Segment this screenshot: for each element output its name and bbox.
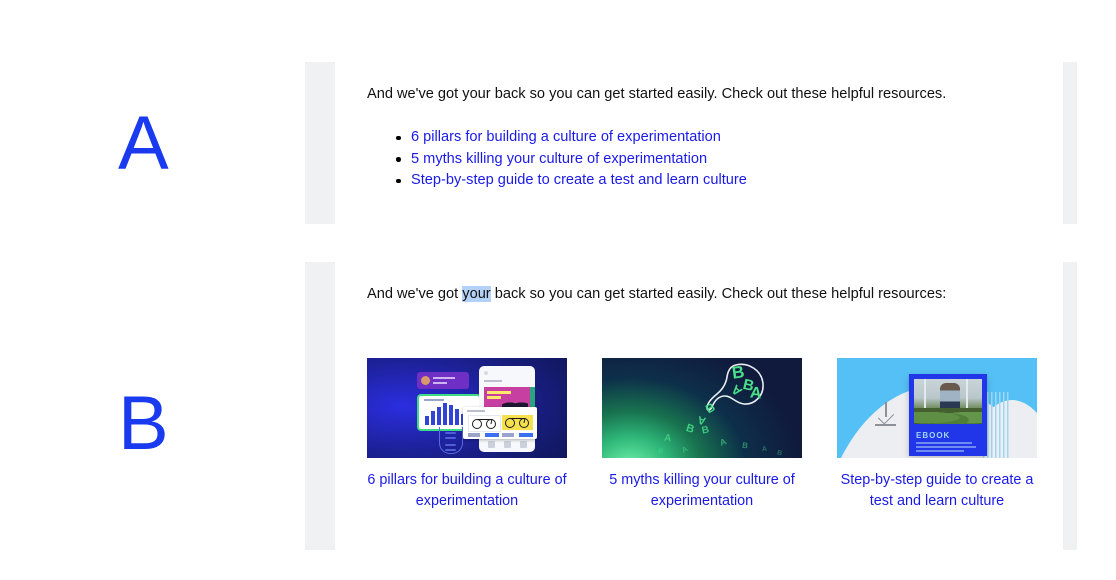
section-label-line bbox=[484, 380, 502, 382]
ebook-cover: EBOOK bbox=[909, 374, 987, 456]
floating-letter-a: A bbox=[663, 434, 672, 445]
product-list-card bbox=[463, 407, 537, 439]
ebook-label: EBOOK bbox=[916, 431, 950, 440]
arrow-head bbox=[878, 408, 894, 424]
figure-label-a: A bbox=[118, 106, 169, 182]
cover-photo bbox=[914, 379, 982, 424]
intro-text-part1: And we've got bbox=[367, 286, 462, 302]
card-title-line bbox=[467, 410, 485, 412]
banner-subline bbox=[487, 396, 501, 399]
frame-icon bbox=[509, 418, 525, 423]
product-price-row bbox=[502, 433, 533, 437]
frame-icon bbox=[476, 419, 492, 424]
panel-b-screenshot: And we've got your back so you can get s… bbox=[305, 262, 1077, 550]
avatar-icon bbox=[421, 376, 430, 385]
nav-search-icon bbox=[504, 441, 511, 448]
resource-link-step-by-step[interactable]: Step-by-step guide to create a test and … bbox=[411, 172, 747, 188]
text-line bbox=[433, 382, 447, 384]
page-gutter-left bbox=[305, 262, 335, 550]
price-label bbox=[502, 433, 514, 437]
resource-link-6-pillars[interactable]: 6 pillars for building a culture of expe… bbox=[411, 129, 721, 145]
cover-text-line bbox=[916, 442, 972, 444]
bicycle-icon bbox=[505, 417, 529, 428]
cover-text-line bbox=[916, 450, 964, 452]
figure-label-b: B bbox=[118, 386, 169, 462]
floating-letter-a: A bbox=[749, 385, 762, 402]
price-value bbox=[485, 433, 499, 437]
panel-a-screenshot: And we've got your back so you can get s… bbox=[305, 62, 1077, 224]
chart-bar bbox=[425, 416, 429, 425]
product-tile bbox=[502, 415, 533, 430]
selected-word-highlight[interactable]: your bbox=[462, 286, 490, 302]
cover-text-line bbox=[916, 446, 976, 448]
card-caption-step-by-step[interactable]: Step-by-step guide to create a test and … bbox=[837, 470, 1037, 511]
chart-bar bbox=[437, 407, 441, 425]
price-value bbox=[519, 433, 533, 437]
resource-card-6-pillars[interactable]: 6 pillars for building a culture of expe… bbox=[367, 358, 567, 511]
resource-card-5-myths[interactable]: BBAABABBAABABAB 5 myths killing your cul… bbox=[602, 358, 802, 511]
floating-letter-b: B bbox=[741, 442, 748, 451]
card-caption-6-pillars[interactable]: 6 pillars for building a culture of expe… bbox=[367, 470, 567, 511]
product-price-row bbox=[468, 433, 499, 437]
greenhouse-post bbox=[924, 379, 926, 409]
plant-beds bbox=[914, 408, 982, 424]
panel-b-intro-paragraph: And we've got your back so you can get s… bbox=[367, 262, 992, 305]
chat-bubble-card bbox=[417, 372, 469, 389]
metric-chip bbox=[445, 432, 456, 434]
nav-home-icon bbox=[488, 441, 495, 448]
thumbnail-background bbox=[602, 358, 802, 458]
intro-text-part2: back so you can get started easily. Chec… bbox=[491, 286, 947, 302]
list-item: 6 pillars for building a culture of expe… bbox=[411, 127, 1047, 149]
chart-bar bbox=[443, 403, 447, 425]
download-arrow-icon bbox=[873, 402, 899, 428]
chart-bar bbox=[431, 411, 435, 425]
ebook-cover-thumbnail[interactable]: EBOOK bbox=[837, 358, 1037, 458]
chart-bar bbox=[449, 405, 453, 425]
panel-a-intro-paragraph: And we've got your back so you can get s… bbox=[367, 62, 992, 105]
chart-title-line bbox=[424, 399, 444, 401]
price-label bbox=[468, 433, 480, 437]
metric-chip bbox=[445, 449, 456, 451]
panel-a-content: And we've got your back so you can get s… bbox=[367, 62, 1047, 224]
ab-letters-thumbnail[interactable]: BBAABABBAABABAB bbox=[602, 358, 802, 458]
page-gutter-right bbox=[1063, 262, 1077, 550]
bicycle-icon bbox=[472, 418, 496, 429]
floating-letter-a: A bbox=[762, 446, 768, 453]
bottom-nav-bar bbox=[479, 439, 535, 449]
metric-chip bbox=[445, 437, 456, 439]
page-gutter-right bbox=[1063, 62, 1077, 224]
resource-card-row: 6 pillars for building a culture of expe… bbox=[367, 358, 1039, 511]
resource-link-list: 6 pillars for building a culture of expe… bbox=[367, 127, 1047, 192]
card-caption-5-myths[interactable]: 5 myths killing your culture of experime… bbox=[602, 470, 802, 511]
resource-card-step-by-step[interactable]: EBOOK Step-by-step guide to create a tes… bbox=[837, 358, 1037, 511]
list-item: 5 myths killing your culture of experime… bbox=[411, 149, 1047, 171]
page-gutter-left bbox=[305, 62, 335, 224]
banner-headline-line bbox=[487, 391, 511, 394]
nav-profile-icon bbox=[520, 441, 527, 448]
search-icon bbox=[484, 371, 488, 375]
arrow-base-line bbox=[875, 424, 896, 426]
metric-chip bbox=[445, 444, 456, 446]
product-tile bbox=[468, 415, 501, 432]
resource-link-5-myths[interactable]: 5 myths killing your culture of experime… bbox=[411, 151, 707, 167]
text-line bbox=[433, 377, 455, 379]
list-item: Step-by-step guide to create a test and … bbox=[411, 170, 1047, 192]
chart-bar bbox=[455, 409, 459, 425]
product-ui-collage-thumbnail[interactable] bbox=[367, 358, 567, 458]
greenhouse-post bbox=[966, 379, 968, 409]
